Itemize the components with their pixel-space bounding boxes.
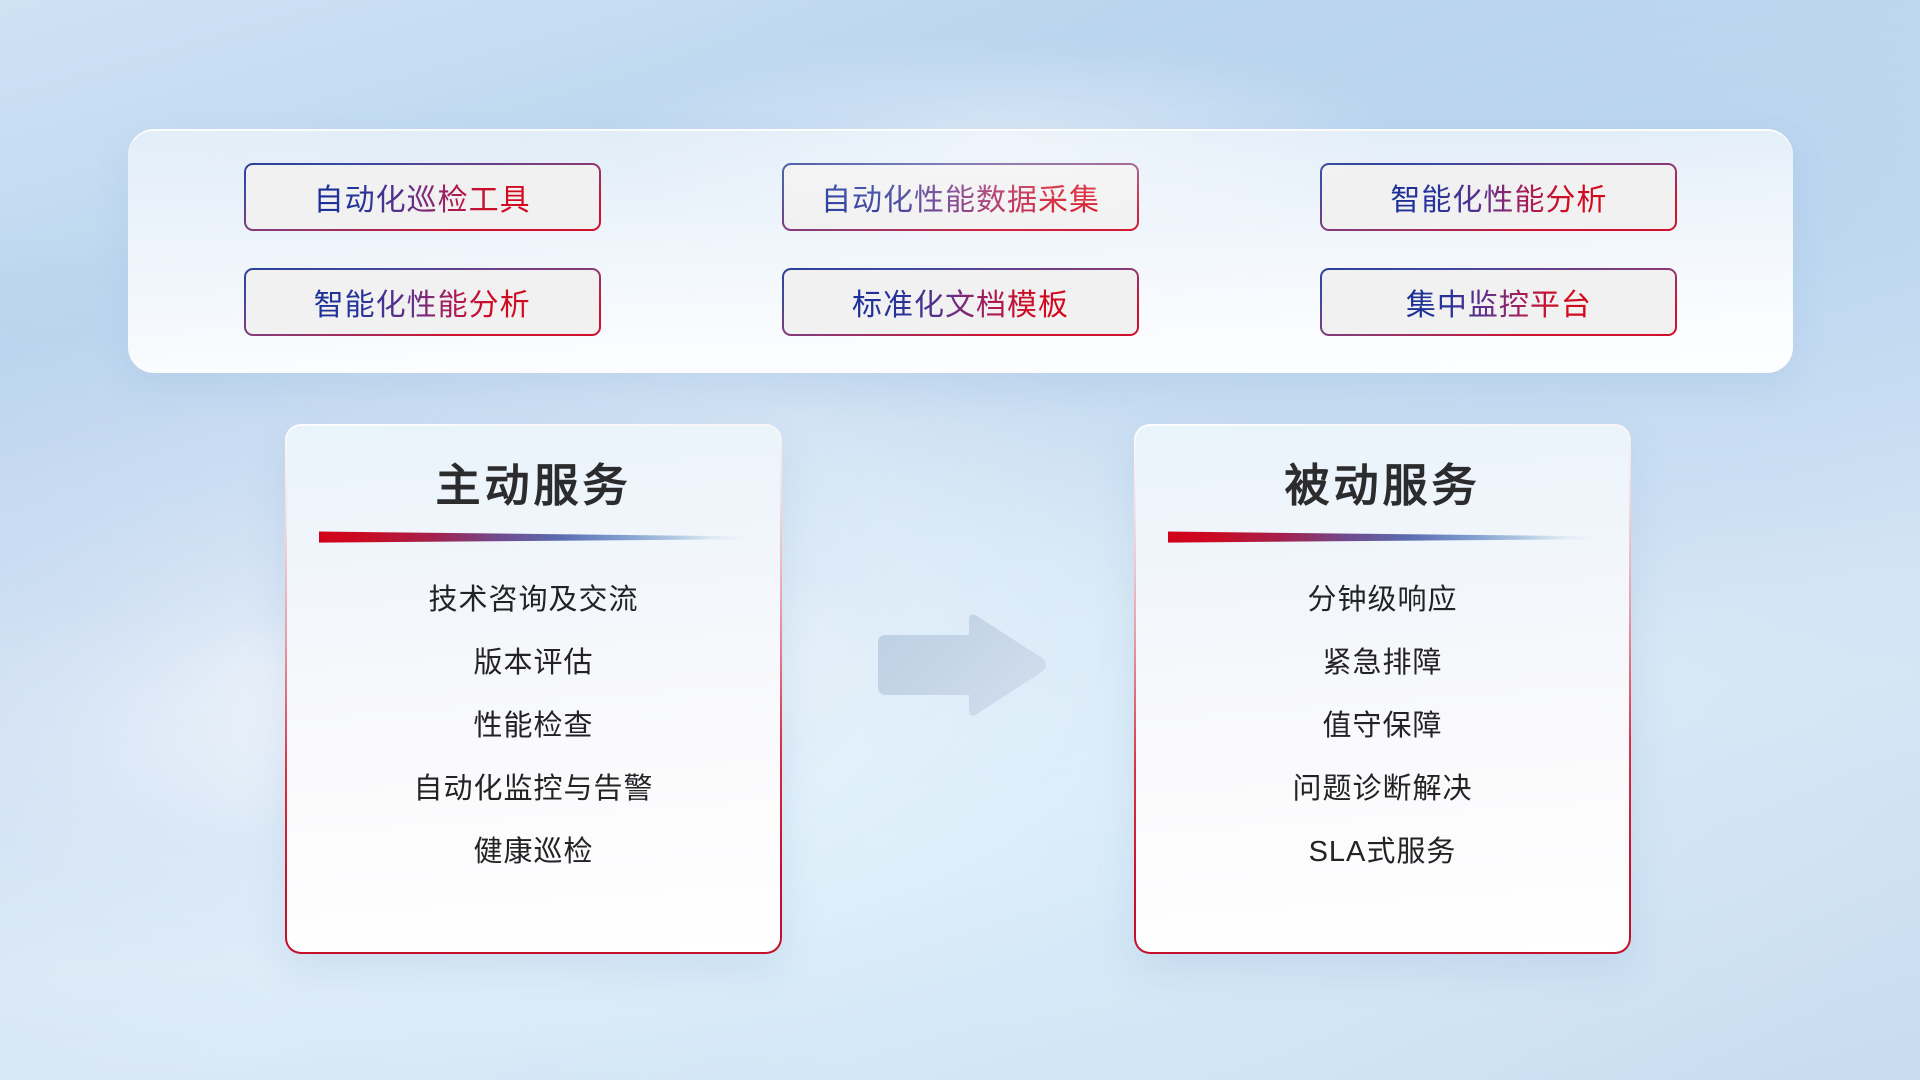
service-item-list: 技术咨询及交流 版本评估 性能检查 自动化监控与告警 健康巡检 — [287, 569, 780, 884]
list-item: 自动化监控与告警 — [413, 758, 653, 821]
list-item: 版本评估 — [473, 632, 593, 695]
capability-chip-inner: 智能化性能分析 — [1322, 165, 1675, 229]
capability-chip-label: 标准化文档模板 — [852, 280, 1069, 324]
slide-canvas: 自动化巡检工具 自动化性能数据采集 智能化性能分析 智能化性能分析 — [0, 0, 1920, 1080]
capability-chip[interactable]: 自动化巡检工具 — [244, 163, 601, 231]
capability-chip[interactable]: 智能化性能分析 — [244, 268, 601, 336]
capability-chip-inner: 自动化巡检工具 — [246, 165, 599, 229]
service-item-list: 分钟级响应 紧急排障 值守保障 问题诊断解决 SLA式服务 — [1136, 569, 1629, 884]
service-card-reactive: 被动服务 分钟级响应 紧急排障 值守保障 问题诊断解决 SLA式服务 — [1134, 424, 1631, 954]
page-title: 主动服务 — [435, 462, 631, 511]
capability-chip[interactable]: 自动化性能数据采集 — [782, 163, 1139, 231]
list-item: 性能检查 — [473, 695, 593, 758]
arrow-right-icon — [870, 610, 1050, 720]
capability-chip-inner: 自动化性能数据采集 — [784, 165, 1137, 229]
list-item: SLA式服务 — [1309, 821, 1457, 884]
title-divider — [1168, 531, 1598, 543]
capability-chip-inner: 智能化性能分析 — [246, 270, 599, 334]
service-card-inner: 主动服务 技术咨询及交流 版本评估 性能检查 自动化监控与告警 健康巡检 — [287, 426, 780, 952]
list-item: 健康巡检 — [473, 821, 593, 884]
list-item: 分钟级响应 — [1307, 569, 1457, 632]
list-item: 问题诊断解决 — [1292, 758, 1472, 821]
page-title: 被动服务 — [1284, 462, 1480, 511]
capability-chip-label: 自动化巡检工具 — [314, 175, 531, 219]
service-card-proactive: 主动服务 技术咨询及交流 版本评估 性能检查 自动化监控与告警 健康巡检 — [285, 424, 782, 954]
capability-chip[interactable]: 集中监控平台 — [1320, 268, 1677, 336]
service-card-inner: 被动服务 分钟级响应 紧急排障 值守保障 问题诊断解决 SLA式服务 — [1136, 426, 1629, 952]
list-item: 值守保障 — [1322, 695, 1442, 758]
capability-chip-inner: 集中监控平台 — [1322, 270, 1675, 334]
capability-chip[interactable]: 智能化性能分析 — [1320, 163, 1677, 231]
capability-chip-label: 智能化性能分析 — [314, 280, 531, 324]
capability-chip-label: 集中监控平台 — [1406, 280, 1592, 324]
title-divider — [319, 531, 749, 543]
capability-chip-inner: 标准化文档模板 — [784, 270, 1137, 334]
capability-tags-panel: 自动化巡检工具 自动化性能数据采集 智能化性能分析 智能化性能分析 — [128, 129, 1793, 373]
list-item: 技术咨询及交流 — [428, 569, 638, 632]
capability-chip[interactable]: 标准化文档模板 — [782, 268, 1139, 336]
capability-chip-label: 自动化性能数据采集 — [821, 175, 1100, 219]
list-item: 紧急排障 — [1322, 632, 1442, 695]
capability-chip-label: 智能化性能分析 — [1390, 175, 1607, 219]
capability-chip-grid: 自动化巡检工具 自动化性能数据采集 智能化性能分析 智能化性能分析 — [128, 130, 1793, 373]
